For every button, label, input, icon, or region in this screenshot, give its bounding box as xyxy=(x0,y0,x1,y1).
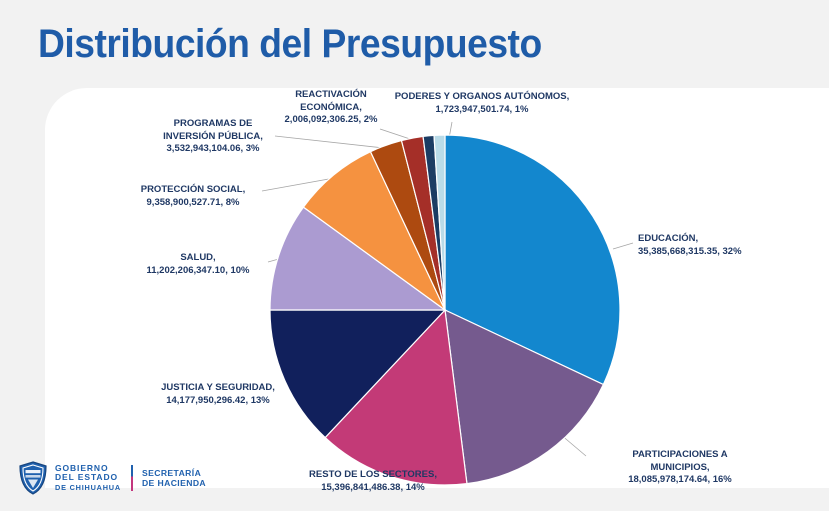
data-label-inversion-value: 3,532,943,104.06, 3% xyxy=(151,143,275,156)
data-label-justicia-name: JUSTICIA Y SEGURIDAD, xyxy=(148,382,288,395)
logo-divider xyxy=(131,465,133,491)
gov-line-3: DE CHIHUAHUA xyxy=(55,483,121,493)
footer-logo: GOBIERNO DEL ESTADO DE CHIHUAHUA SECRETA… xyxy=(18,459,206,497)
data-label-proteccion: PROTECCIÓN SOCIAL, 9,358,900,527.71, 8% xyxy=(124,184,262,209)
dept-line-1: SECRETARÍA xyxy=(142,468,206,478)
gov-line-2: DEL ESTADO xyxy=(55,473,121,483)
data-label-reactivacion: REACTIVACIÓN ECONÓMICA, 2,006,092,306.25… xyxy=(276,89,386,127)
data-label-poderes-name: PODERES Y ORGANOS AUTÓNOMOS, xyxy=(388,91,576,104)
data-label-resto-value: 15,396,841,486.38, 14% xyxy=(268,482,478,495)
government-wordmark: GOBIERNO DEL ESTADO DE CHIHUAHUA xyxy=(55,464,121,493)
data-label-educacion: EDUCACIÓN, 35,385,668,315.35, 32% xyxy=(638,233,742,258)
data-label-proteccion-name: PROTECCIÓN SOCIAL, xyxy=(124,184,262,197)
data-label-educacion-value: 35,385,668,315.35, 32% xyxy=(638,246,742,259)
dept-line-2: DE HACIENDA xyxy=(142,478,206,488)
data-label-salud-name: SALUD, xyxy=(128,252,268,265)
data-label-reactivacion-name2: ECONÓMICA, xyxy=(276,102,386,115)
department-wordmark: SECRETARÍA DE HACIENDA xyxy=(142,468,206,488)
data-label-resto-name: RESTO DE LOS SECTORES, xyxy=(268,469,478,482)
data-label-salud: SALUD, 11,202,206,347.10, 10% xyxy=(128,252,268,277)
data-label-inversion-name2: INVERSIÓN PÚBLICA, xyxy=(151,131,275,144)
data-label-inversion: PROGRAMAS DE INVERSIÓN PÚBLICA, 3,532,94… xyxy=(151,118,275,156)
data-label-reactivacion-name1: REACTIVACIÓN xyxy=(276,89,386,102)
shield-crest-icon xyxy=(18,461,48,495)
data-label-resto: RESTO DE LOS SECTORES, 15,396,841,486.38… xyxy=(268,469,478,494)
data-label-reactivacion-value: 2,006,092,306.25, 2% xyxy=(276,114,386,127)
data-label-poderes: PODERES Y ORGANOS AUTÓNOMOS, 1,723,947,5… xyxy=(388,91,576,116)
data-label-proteccion-value: 9,358,900,527.71, 8% xyxy=(124,197,262,210)
data-label-educacion-name: EDUCACIÓN, xyxy=(638,233,742,246)
pie-chart: EDUCACIÓN, 35,385,668,315.35, 32% PARTIC… xyxy=(0,0,829,511)
data-label-justicia-value: 14,177,950,296.42, 13% xyxy=(148,395,288,408)
data-label-participaciones-name1: PARTICIPACIONES A xyxy=(580,449,780,462)
data-label-justicia: JUSTICIA Y SEGURIDAD, 14,177,950,296.42,… xyxy=(148,382,288,407)
data-label-participaciones-value: 18,085,978,174.64, 16% xyxy=(580,474,780,487)
data-label-participaciones-name2: MUNICIPIOS, xyxy=(580,462,780,475)
leader-line-educacion xyxy=(613,243,633,249)
data-label-salud-value: 11,202,206,347.10, 10% xyxy=(128,265,268,278)
data-label-poderes-value: 1,723,947,501.74, 1% xyxy=(388,104,576,117)
pie-slices xyxy=(270,135,620,485)
data-label-inversion-name1: PROGRAMAS DE xyxy=(151,118,275,131)
data-label-participaciones: PARTICIPACIONES A MUNICIPIOS, 18,085,978… xyxy=(580,449,780,487)
